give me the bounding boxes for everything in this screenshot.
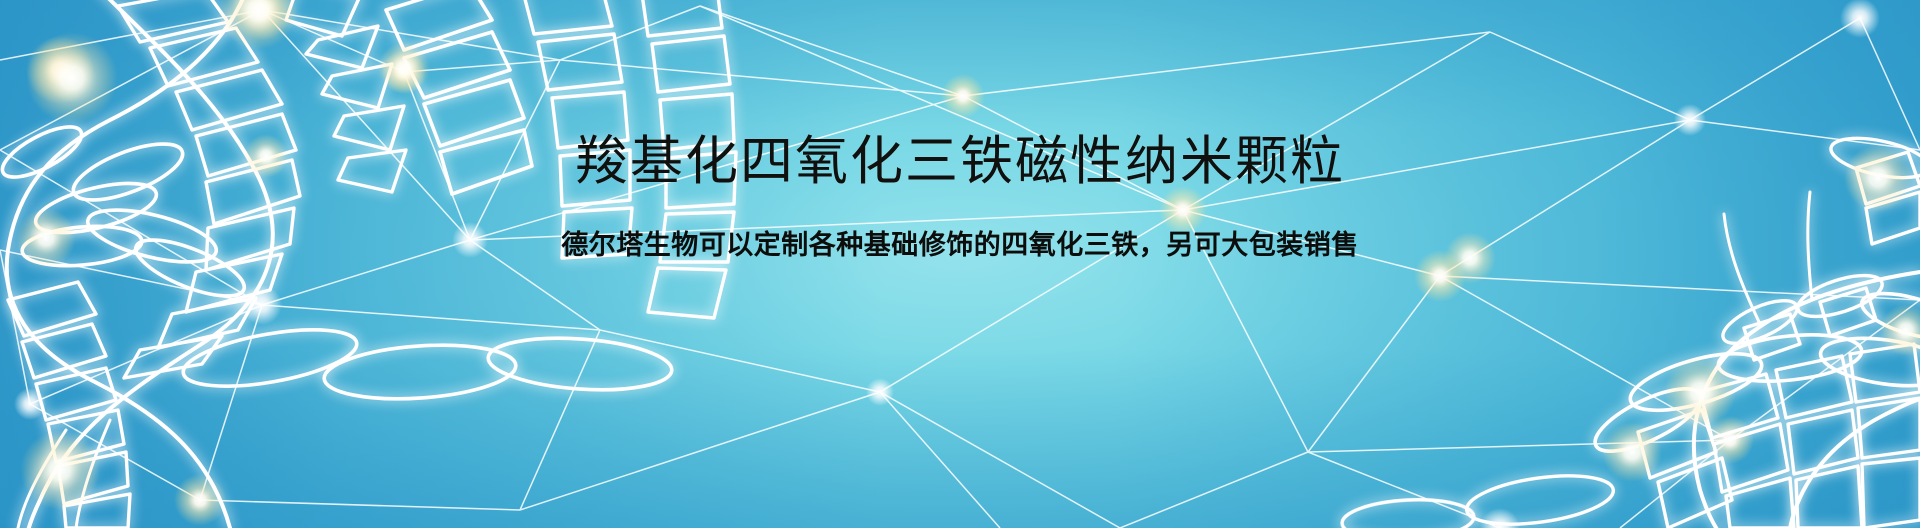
banner-subtitle: 德尔塔生物可以定制各种基础修饰的四氧化三铁，另可大包装销售 [561,229,1359,261]
promo-banner: 羧基化四氧化三铁磁性纳米颗粒 德尔塔生物可以定制各种基础修饰的四氧化三铁，另可大… [0,0,1920,528]
banner-text-block: 羧基化四氧化三铁磁性纳米颗粒 德尔塔生物可以定制各种基础修饰的四氧化三铁，另可大… [0,0,1920,528]
banner-title: 羧基化四氧化三铁磁性纳米颗粒 [575,132,1345,191]
